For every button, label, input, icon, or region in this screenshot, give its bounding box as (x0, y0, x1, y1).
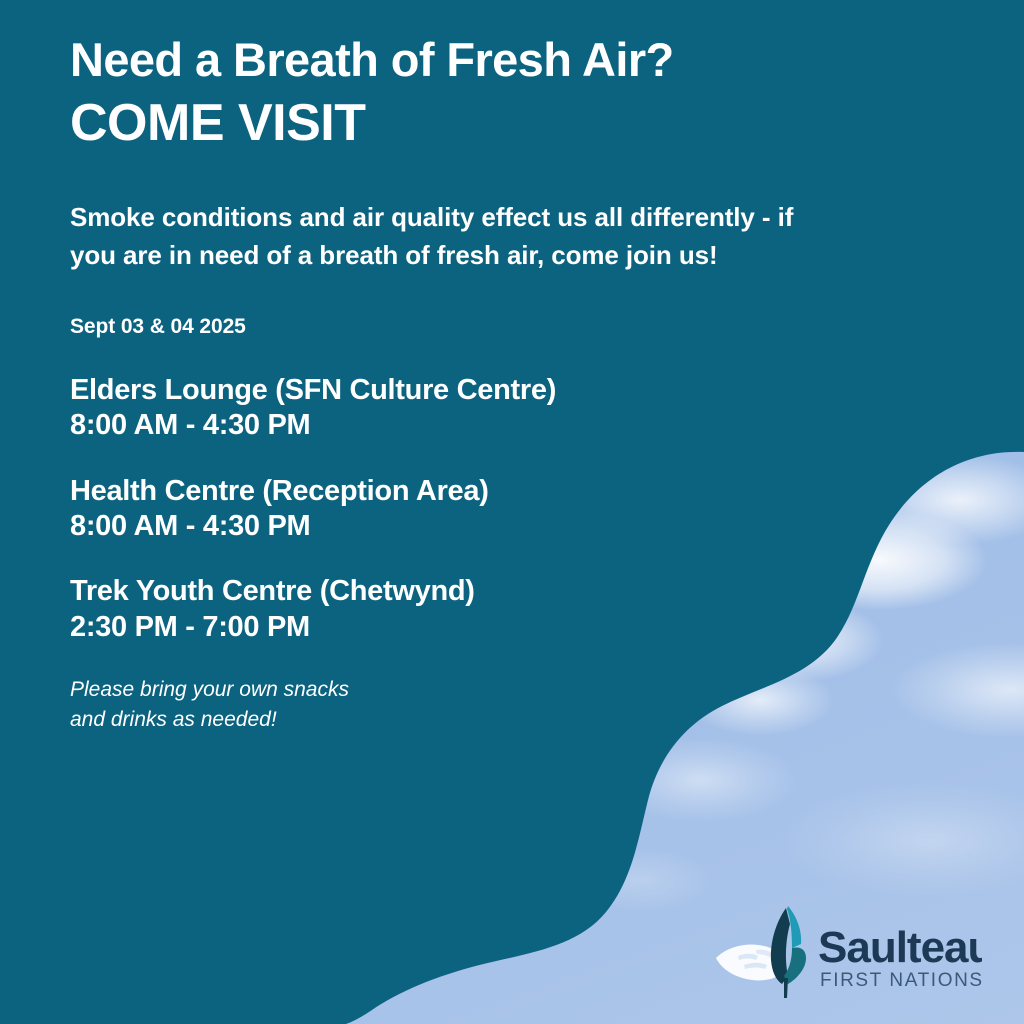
poster: Need a Breath of Fresh Air? COME VISIT S… (0, 0, 1024, 1024)
logo-wordmark: Saulteau (818, 923, 982, 972)
venue-time: 8:00 AM - 4:30 PM (70, 509, 870, 544)
poster-content: Need a Breath of Fresh Air? COME VISIT S… (70, 34, 870, 735)
event-date: Sept 03 & 04 2025 (70, 315, 870, 339)
venue-name: Health Centre (Reception Area) (70, 474, 870, 509)
page-title: Need a Breath of Fresh Air? (70, 34, 870, 87)
feather-icon (771, 906, 806, 998)
venue-item: Health Centre (Reception Area) 8:00 AM -… (70, 474, 870, 545)
footnote-line-1: Please bring your own snacks (70, 678, 349, 701)
venue-list: Elders Lounge (SFN Culture Centre) 8:00 … (70, 373, 870, 645)
venue-name: Trek Youth Centre (Chetwynd) (70, 574, 870, 609)
venue-name: Elders Lounge (SFN Culture Centre) (70, 373, 870, 408)
footnote: Please bring your own snacks and drinks … (70, 675, 870, 735)
venue-time: 2:30 PM - 7:00 PM (70, 610, 870, 645)
venue-item: Elders Lounge (SFN Culture Centre) 8:00 … (70, 373, 870, 444)
subtitle: COME VISIT (70, 95, 870, 152)
venue-item: Trek Youth Centre (Chetwynd) 2:30 PM - 7… (70, 574, 870, 645)
venue-time: 8:00 AM - 4:30 PM (70, 408, 870, 443)
footnote-line-2: and drinks as needed! (70, 708, 277, 731)
logo-tagline: FIRST NATIONS (820, 970, 982, 991)
logo-artwork: Saulteau FIRST NATIONS (712, 898, 982, 1004)
body-paragraph: Smoke conditions and air quality effect … (70, 198, 830, 275)
saulteau-first-nations-logo: Saulteau FIRST NATIONS (712, 898, 982, 1004)
